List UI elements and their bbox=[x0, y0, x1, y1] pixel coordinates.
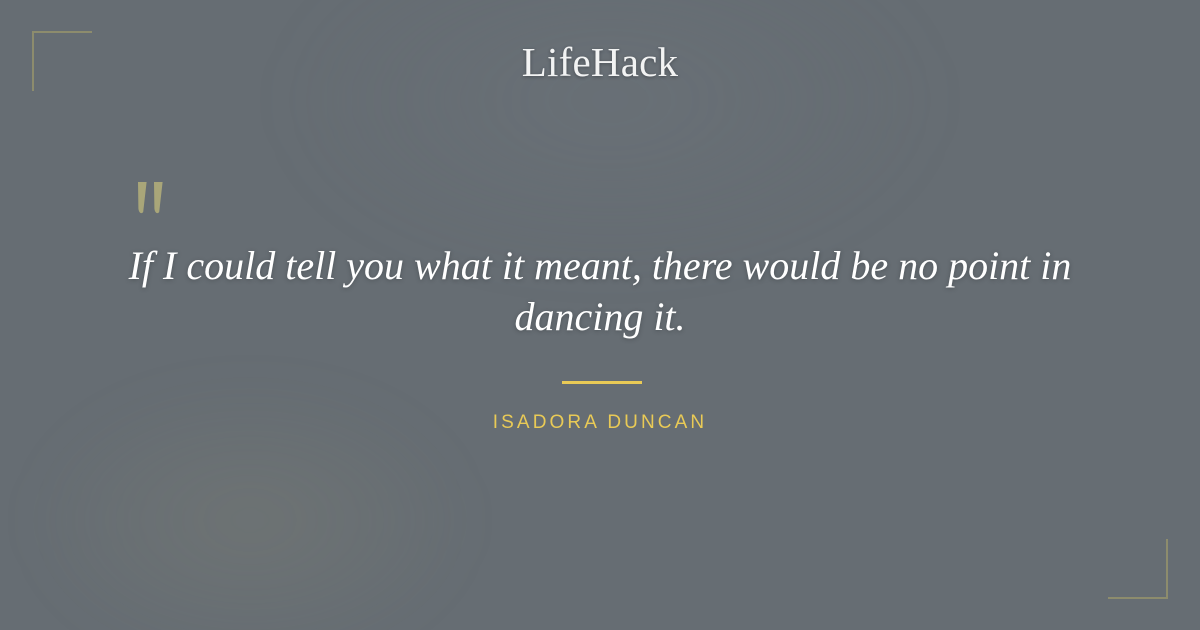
quote-author: ISADORA DUNCAN bbox=[0, 412, 1200, 434]
corner-bracket-bottom-right-icon bbox=[1108, 539, 1168, 599]
quote-card: LifeHack If I could tell you what it mea… bbox=[0, 0, 1200, 630]
quote-line-2: dancing it. bbox=[514, 294, 685, 339]
quote-body: If I could tell you what it meant, there… bbox=[100, 240, 1100, 342]
gold-divider bbox=[562, 381, 642, 384]
brand-logo: LifeHack bbox=[0, 40, 1200, 84]
double-quote-mark-icon bbox=[128, 168, 188, 228]
quote-line-1: If I could tell you what it meant, there… bbox=[129, 243, 1072, 288]
